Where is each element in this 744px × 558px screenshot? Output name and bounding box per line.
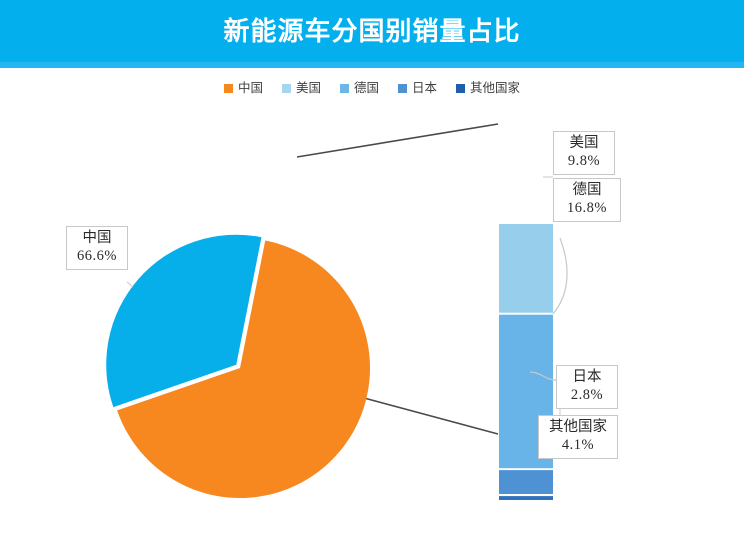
callout-china-value: 66.6% [73, 248, 121, 266]
bar-segment-japan[interactable] [499, 470, 553, 494]
bar-of-pie-graphic [0, 100, 744, 500]
callout-usa-value: 9.8% [560, 153, 608, 171]
callout-usa[interactable]: 美国 9.8% [553, 131, 615, 175]
chart-canvas: 新能源车分国别销量占比 中国 美国 德国 日本 其他国家 [0, 0, 744, 558]
legend-item-other[interactable]: 其他国家 [456, 82, 520, 95]
legend-swatch-germany [340, 84, 349, 93]
callout-usa-label: 美国 [560, 135, 608, 153]
legend-label-usa: 美国 [296, 82, 321, 95]
bar-segment-usa[interactable] [499, 224, 553, 313]
callout-germany-label: 德国 [560, 182, 614, 200]
legend-label-china: 中国 [238, 82, 263, 95]
chart-legend: 中国 美国 德国 日本 其他国家 [0, 78, 744, 98]
header-underline [0, 62, 744, 68]
callout-other[interactable]: 其他国家 4.1% [538, 415, 618, 459]
plot-area: 中国 66.6% 美国 9.8% 德国 16.8% 日本 2.8% 其他国家 4… [0, 100, 744, 500]
legend-item-china[interactable]: 中国 [224, 82, 263, 95]
callout-germany[interactable]: 德国 16.8% [553, 178, 621, 222]
legend-item-germany[interactable]: 德国 [340, 82, 379, 95]
bar-segment-other[interactable] [499, 496, 553, 500]
callout-japan-label: 日本 [563, 369, 611, 387]
callout-germany-value: 16.8% [560, 200, 614, 218]
legend-item-usa[interactable]: 美国 [282, 82, 321, 95]
legend-label-other: 其他国家 [470, 82, 520, 95]
legend-swatch-china [224, 84, 233, 93]
legend-item-japan[interactable]: 日本 [398, 82, 437, 95]
legend-swatch-other [456, 84, 465, 93]
callout-other-label: 其他国家 [545, 419, 611, 437]
legend-label-germany: 德国 [354, 82, 379, 95]
legend-swatch-japan [398, 84, 407, 93]
legend-label-japan: 日本 [412, 82, 437, 95]
callout-china[interactable]: 中国 66.6% [66, 226, 128, 270]
callout-japan-value: 2.8% [563, 387, 611, 405]
callout-china-label: 中国 [73, 230, 121, 248]
callout-japan[interactable]: 日本 2.8% [556, 365, 618, 409]
callout-other-value: 4.1% [545, 437, 611, 455]
page-title: 新能源车分国别销量占比 [0, 0, 744, 62]
pie-chart [106, 235, 370, 498]
legend-swatch-usa [282, 84, 291, 93]
